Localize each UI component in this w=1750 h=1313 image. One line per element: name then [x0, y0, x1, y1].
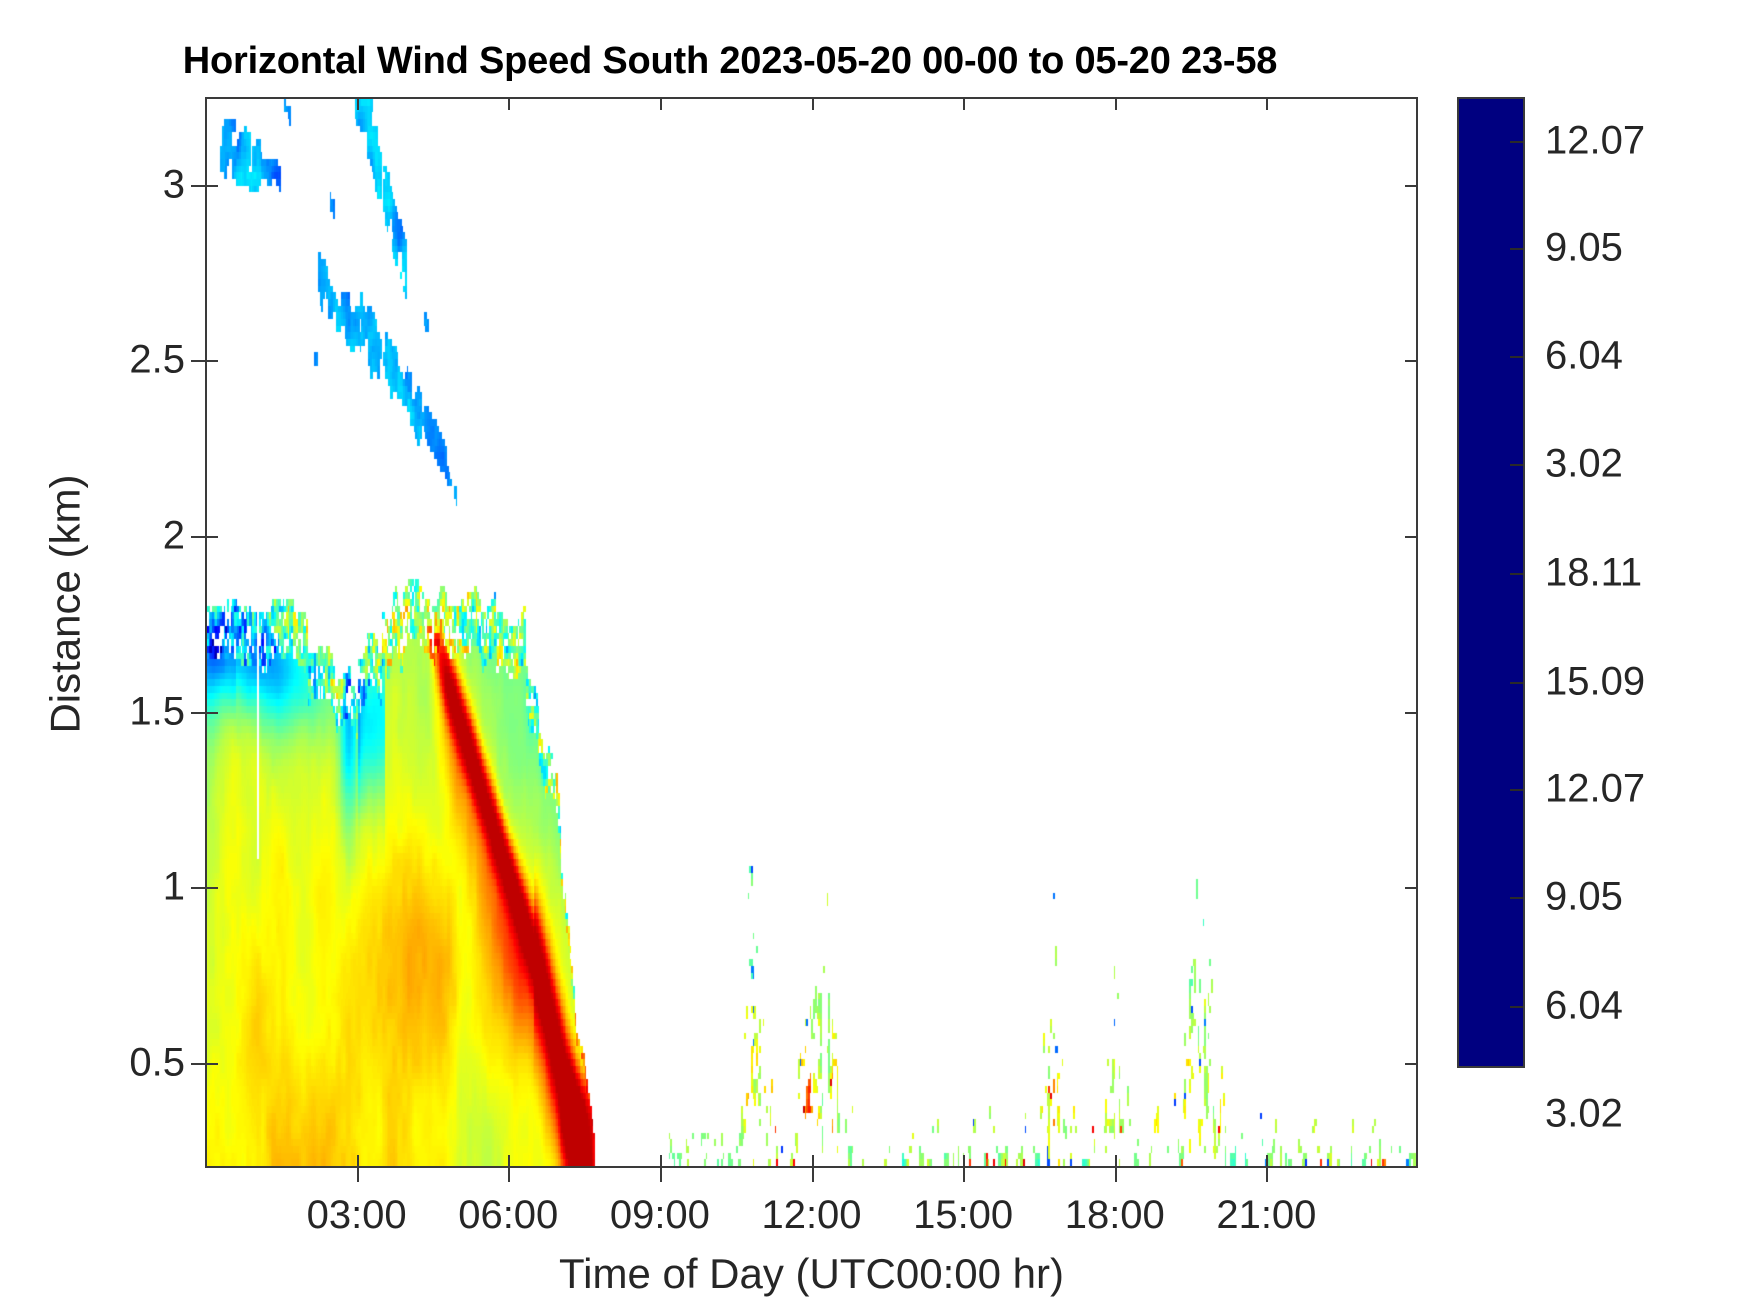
x-tick-inner [1266, 1155, 1268, 1168]
colorbar[interactable] [1457, 97, 1525, 1068]
colorbar-tick-label: 9.05 [1545, 225, 1623, 270]
y-tick-mark [191, 360, 205, 362]
x-tick-label: 09:00 [610, 1193, 710, 1238]
y-tick-mark [191, 536, 205, 538]
x-tick-inner [508, 1155, 510, 1168]
y-tick-mark [191, 1063, 205, 1065]
colorbar-tick-label: 9.05 [1545, 875, 1623, 920]
colorbar-tick-label: 15.09 [1545, 659, 1645, 704]
y-tick-inner [205, 1063, 218, 1065]
colorbar-tick-mark [1510, 897, 1523, 899]
y-tick-label: 1 [163, 865, 185, 910]
y-tick-inner [205, 712, 218, 714]
x-tick-inner [812, 1155, 814, 1168]
x-tick-mark [812, 1168, 814, 1182]
colorbar-tick-mark [1510, 141, 1523, 143]
y-tick-inner [1405, 887, 1418, 889]
x-axis-label: Time of Day (UTC00:00 hr) [205, 1250, 1418, 1298]
y-tick-inner [1405, 1063, 1418, 1065]
y-tick-inner [1405, 360, 1418, 362]
colorbar-tick-label: 6.04 [1545, 983, 1623, 1028]
x-tick-label: 18:00 [1065, 1193, 1165, 1238]
y-tick-inner [205, 185, 218, 187]
y-tick-label: 0.5 [129, 1040, 185, 1085]
page-title: Horizontal Wind Speed South 2023-05-20 0… [0, 40, 1460, 83]
y-tick-inner [205, 536, 218, 538]
colorbar-tick-mark [1510, 248, 1523, 250]
y-tick-label: 2 [163, 513, 185, 558]
x-tick-mark [1115, 1168, 1117, 1182]
x-tick-mark [508, 1168, 510, 1182]
x-tick-inner [660, 1155, 662, 1168]
wind-speed-heatmap [207, 99, 1416, 1166]
x-tick-inner [357, 97, 359, 110]
figure-container: Horizontal Wind Speed South 2023-05-20 0… [0, 0, 1750, 1313]
colorbar-gradient [1459, 99, 1523, 1066]
colorbar-tick-mark [1510, 573, 1523, 575]
x-tick-label: 21:00 [1216, 1193, 1316, 1238]
colorbar-tick-mark [1510, 464, 1523, 466]
colorbar-tick-label: 12.07 [1545, 767, 1645, 812]
y-tick-mark [191, 185, 205, 187]
y-axis-label: Distance (km) [42, 69, 90, 1140]
y-tick-inner [1405, 185, 1418, 187]
colorbar-tick-mark [1510, 356, 1523, 358]
y-tick-inner [205, 887, 218, 889]
x-tick-label: 03:00 [307, 1193, 407, 1238]
x-tick-label: 06:00 [458, 1193, 558, 1238]
x-tick-inner [963, 1155, 965, 1168]
x-tick-mark [660, 1168, 662, 1182]
x-tick-inner [508, 97, 510, 110]
x-tick-inner [812, 97, 814, 110]
x-tick-mark [1266, 1168, 1268, 1182]
y-tick-inner [205, 360, 218, 362]
x-tick-label: 15:00 [913, 1193, 1013, 1238]
colorbar-tick-label: 18.11 [1545, 550, 1642, 595]
y-tick-label: 1.5 [129, 689, 185, 734]
x-tick-inner [963, 97, 965, 110]
x-tick-inner [660, 97, 662, 110]
x-tick-inner [357, 1155, 359, 1168]
colorbar-tick-mark [1510, 682, 1523, 684]
colorbar-tick-label: 3.02 [1545, 442, 1623, 487]
y-tick-inner [1405, 536, 1418, 538]
colorbar-tick-label: 3.02 [1545, 1091, 1623, 1136]
y-tick-label: 3 [163, 162, 185, 207]
x-tick-inner [1115, 97, 1117, 110]
y-tick-mark [191, 887, 205, 889]
colorbar-tick-label: 12.07 [1545, 118, 1645, 163]
heatmap-axes [205, 97, 1418, 1168]
x-tick-inner [1266, 97, 1268, 110]
x-tick-inner [1115, 1155, 1117, 1168]
colorbar-tick-label: 6.04 [1545, 334, 1623, 379]
x-tick-label: 12:00 [761, 1193, 861, 1238]
colorbar-tick-mark [1510, 1006, 1523, 1008]
x-tick-mark [357, 1168, 359, 1182]
colorbar-tick-mark [1510, 789, 1523, 791]
y-tick-mark [191, 712, 205, 714]
y-tick-label: 2.5 [129, 338, 185, 383]
y-tick-inner [1405, 712, 1418, 714]
x-tick-mark [963, 1168, 965, 1182]
